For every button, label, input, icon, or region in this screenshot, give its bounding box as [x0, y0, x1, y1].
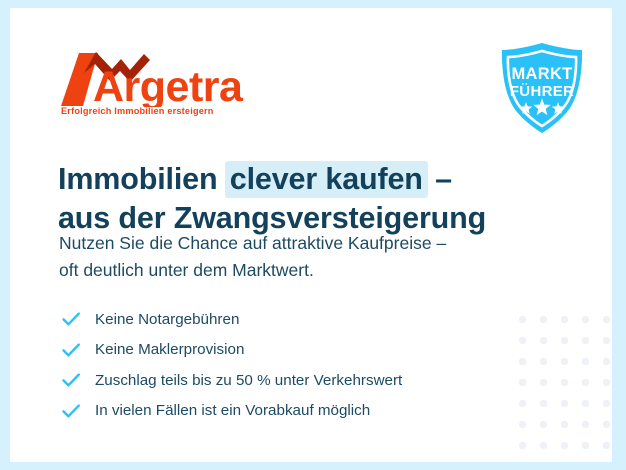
headline-highlight: clever kaufen	[225, 161, 428, 198]
markt-fuehrer-badge: MARKT FÜHRER	[494, 40, 590, 136]
promo-banner: Argetra Erfolgreich Immobilien ersteiger…	[0, 0, 626, 470]
check-icon	[60, 339, 82, 361]
page-title: Immobilien clever kaufen – aus der Zwang…	[58, 160, 558, 237]
headline-dash: –	[427, 162, 452, 196]
list-item-label: Zuschlag teils bis zu 50 % unter Verkehr…	[95, 373, 402, 388]
argetra-logo-mark: Argetra	[58, 51, 258, 107]
subtitle-line-1: Nutzen Sie die Chance auf attraktive Kau…	[59, 230, 559, 257]
list-item: Keine Notargebühren	[60, 304, 530, 335]
list-item-label: Keine Notargebühren	[95, 312, 239, 327]
benefits-list: Keine Notargebühren Keine Maklerprovisio…	[60, 304, 530, 426]
badge-line1: MARKT	[511, 65, 572, 83]
list-item: Zuschlag teils bis zu 50 % unter Verkehr…	[60, 365, 530, 396]
headline-line-1: Immobilien clever kaufen –	[58, 160, 558, 198]
argetra-logo[interactable]: Argetra Erfolgreich Immobilien ersteiger…	[58, 51, 258, 123]
check-icon	[60, 308, 82, 330]
list-item: In vielen Fällen ist ein Vorabkauf mögli…	[60, 396, 530, 427]
check-icon	[60, 369, 82, 391]
headline-text-before: Immobilien	[58, 162, 226, 196]
subtitle-line-2: oft deutlich unter dem Marktwert.	[59, 257, 559, 284]
list-item-label: Keine Maklerprovision	[95, 342, 244, 357]
subtitle: Nutzen Sie die Chance auf attraktive Kau…	[59, 230, 559, 283]
check-icon	[60, 400, 82, 422]
badge-line2: FÜHRER	[510, 83, 574, 100]
banner-card: Argetra Erfolgreich Immobilien ersteiger…	[10, 8, 612, 462]
list-item-label: In vielen Fällen ist ein Vorabkauf mögli…	[95, 403, 370, 418]
list-item: Keine Maklerprovision	[60, 335, 530, 366]
logo-tagline: Erfolgreich Immobilien ersteigern	[61, 106, 214, 116]
svg-text:Argetra: Argetra	[93, 63, 244, 107]
